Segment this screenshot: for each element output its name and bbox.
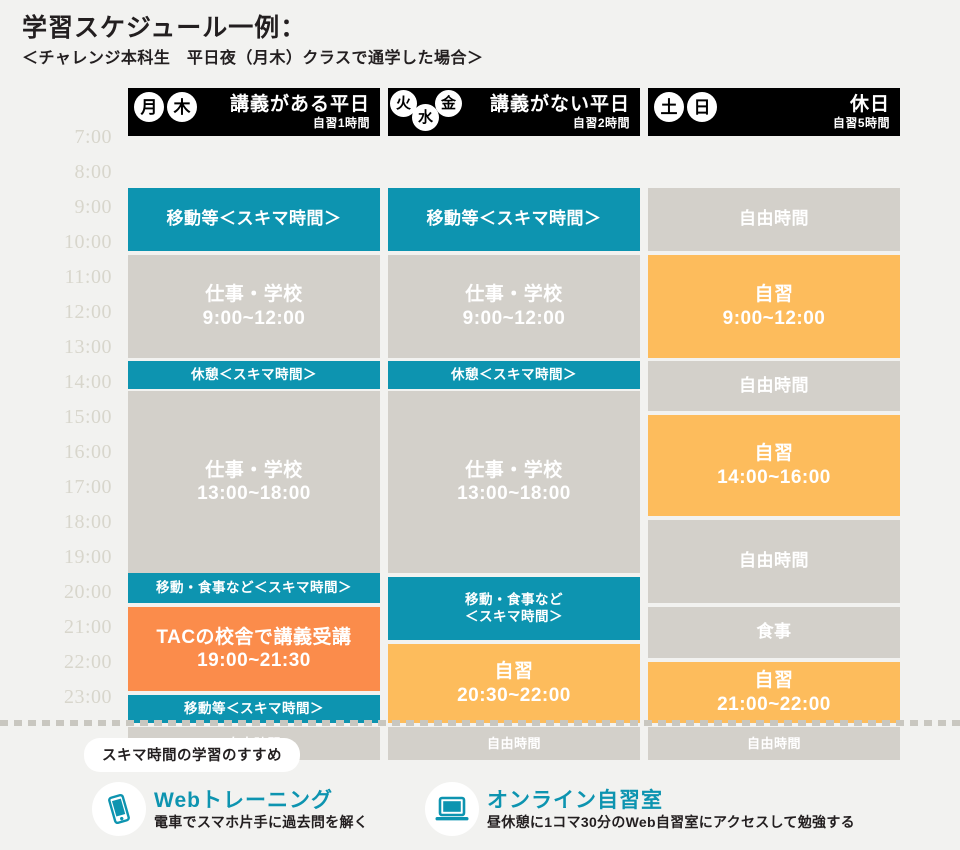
promo-desc: 電車でスマホ片手に過去問を解く (154, 814, 368, 831)
footer: スキマ時間の学習のすすめ Webトレーニング 電車でスマホ片手に過去問を解く (0, 730, 960, 850)
column-body: 自由時間自習9:00~12:00自由時間自習14:00~16:00自由時間食事自… (648, 136, 900, 712)
block-label-secondary: 14:00~16:00 (652, 466, 896, 489)
time-label: 18:00 (0, 511, 112, 534)
schedule-block-free-time-evening: 自由時間 (648, 520, 900, 603)
schedule-block-work-school-afternoon: 仕事・学校13:00~18:00 (128, 391, 380, 573)
column-body: 移動等＜スキマ時間＞仕事・学校9:00~12:00休憩＜スキマ時間＞仕事・学校1… (388, 136, 640, 712)
promo-title: Webトレーニング (154, 788, 368, 813)
block-label-secondary: 9:00~12:00 (392, 307, 636, 330)
schedule-block-work-school-afternoon: 仕事・学校13:00~18:00 (388, 391, 640, 573)
block-label-primary: 移動・食事など＜スキマ時間＞ (132, 580, 376, 596)
block-label-primary: 移動等＜スキマ時間＞ (392, 209, 636, 230)
schedule-block-commute-meal-gap: 移動・食事など＜スキマ時間＞ (128, 573, 380, 603)
schedule-block-self-study-night: 自習21:00~22:00 (648, 662, 900, 723)
column-header-subtitle: 自習5時間 (732, 117, 890, 130)
schedule-block-self-study-night: 自習20:30~22:00 (388, 644, 640, 723)
day-badge: 日 (687, 92, 717, 122)
time-label: 8:00 (0, 161, 112, 184)
schedule-block-free-time-morning: 自由時間 (648, 188, 900, 251)
time-label: 17:00 (0, 476, 112, 499)
time-label: 20:00 (0, 581, 112, 604)
block-label-primary: 仕事・学校 (132, 459, 376, 482)
time-axis: 7:008:009:0010:0011:0012:0013:0014:0015:… (0, 120, 120, 720)
smartphone-icon (92, 782, 146, 836)
schedule-block-meal: 食事 (648, 607, 900, 658)
day-badge: 月 (134, 92, 164, 122)
time-label: 22:00 (0, 651, 112, 674)
section-divider (0, 720, 960, 726)
block-label-primary: 休憩＜スキマ時間＞ (132, 367, 376, 383)
block-label-primary: 自由時間 (652, 376, 896, 397)
column-header-text: 休日自習5時間 (732, 95, 900, 130)
time-label: 14:00 (0, 371, 112, 394)
column-header-text: 講義がある平日自習1時間 (212, 95, 380, 130)
block-label-secondary: 9:00~12:00 (132, 307, 376, 330)
block-label-secondary: 13:00~18:00 (392, 482, 636, 505)
column-header: 土日休日自習5時間 (648, 88, 900, 136)
time-label: 23:00 (0, 686, 112, 709)
column-header-title: 講義がある平日 (212, 95, 370, 115)
block-label-primary: 移動等＜スキマ時間＞ (132, 701, 376, 717)
block-label-primary: TACの校舎で講義受講 (132, 626, 376, 649)
day-badge: 土 (654, 92, 684, 122)
column-header-subtitle: 自習2時間 (472, 117, 630, 130)
time-label: 12:00 (0, 301, 112, 324)
time-label: 7:00 (0, 126, 112, 149)
block-label-primary: 休憩＜スキマ時間＞ (392, 367, 636, 383)
schedule-block-self-study-afternoon: 自習14:00~16:00 (648, 415, 900, 516)
block-label-primary: 仕事・学校 (392, 459, 636, 482)
block-label-primary: 自習 (392, 660, 636, 683)
column-header-title: 休日 (732, 95, 890, 115)
block-label-secondary: 13:00~18:00 (132, 482, 376, 505)
block-label-primary: 仕事・学校 (132, 283, 376, 306)
block-label-secondary: 9:00~12:00 (652, 307, 896, 330)
day-badges: 土日 (648, 88, 732, 136)
schedule-block-commute-gap: 移動等＜スキマ時間＞ (388, 188, 640, 251)
promo-desc: 昼休憩に1コマ30分のWeb自習室にアクセスして勉強する (487, 814, 855, 831)
block-label-primary: 自由時間 (652, 209, 896, 230)
promo-title: オンライン自習室 (487, 788, 855, 813)
block-label-primary: 自習 (652, 283, 896, 306)
block-label-primary: 自由時間 (652, 551, 896, 572)
day-badge: 木 (167, 92, 197, 122)
block-label-secondary: 20:30~22:00 (392, 684, 636, 707)
block-label-primary: 自習 (652, 442, 896, 465)
time-label: 19:00 (0, 546, 112, 569)
schedule-block-commute-meal-gap: 移動・食事など＜スキマ時間＞ (388, 577, 640, 640)
day-badges: 月木 (128, 88, 212, 136)
block-label-primary: 自習 (652, 669, 896, 692)
block-label-secondary: 21:00~22:00 (652, 693, 896, 716)
schedule-column-weekday-no-lecture: 火水金講義がない平日自習2時間移動等＜スキマ時間＞仕事・学校9:00~12:00… (388, 88, 640, 712)
laptop-icon (425, 782, 479, 836)
page-title: 学習スケジュール一例： (22, 8, 306, 44)
schedule-block-work-school-morning: 仕事・学校9:00~12:00 (388, 255, 640, 358)
column-header-text: 講義がない平日自習2時間 (472, 95, 640, 130)
schedule-block-work-school-morning: 仕事・学校9:00~12:00 (128, 255, 380, 358)
day-badge: 金 (435, 90, 462, 117)
schedule-block-commute-gap-night: 移動等＜スキマ時間＞ (128, 695, 380, 723)
column-header-subtitle: 自習1時間 (212, 117, 370, 130)
time-label: 11:00 (0, 266, 112, 289)
time-label: 21:00 (0, 616, 112, 639)
schedule-column-holiday: 土日休日自習5時間自由時間自習9:00~12:00自由時間自習14:00~16:… (648, 88, 900, 712)
column-header: 火水金講義がない平日自習2時間 (388, 88, 640, 136)
time-label: 16:00 (0, 441, 112, 464)
block-label-primary: 食事 (652, 622, 896, 643)
column-header-title: 講義がない平日 (472, 95, 630, 115)
block-label-primary: 移動・食事など (392, 592, 636, 608)
schedule-column-weekday-with-lecture: 月木講義がある平日自習1時間移動等＜スキマ時間＞仕事・学校9:00~12:00休… (128, 88, 380, 712)
time-label: 10:00 (0, 231, 112, 254)
footer-pill-label: スキマ時間の学習のすすめ (84, 738, 300, 772)
time-label: 9:00 (0, 196, 112, 219)
block-label-secondary: ＜スキマ時間＞ (392, 609, 636, 625)
schedule-block-free-time-noon: 自由時間 (648, 361, 900, 411)
promo-web-training[interactable]: Webトレーニング 電車でスマホ片手に過去問を解く (92, 782, 368, 836)
page-subtitle: ＜チャレンジ本科生 平日夜（月木）クラスで通学した場合＞ (22, 44, 484, 68)
block-label-primary: 仕事・学校 (392, 283, 636, 306)
block-label-primary: 移動等＜スキマ時間＞ (132, 209, 376, 230)
day-badges: 火水金 (388, 88, 472, 136)
schedule-block-break-gap: 休憩＜スキマ時間＞ (388, 361, 640, 389)
schedule-block-commute-gap: 移動等＜スキマ時間＞ (128, 188, 380, 251)
column-header: 月木講義がある平日自習1時間 (128, 88, 380, 136)
column-body: 移動等＜スキマ時間＞仕事・学校9:00~12:00休憩＜スキマ時間＞仕事・学校1… (128, 136, 380, 712)
schedule-block-tac-lecture: TACの校舎で講義受講19:00~21:30 (128, 607, 380, 691)
time-label: 15:00 (0, 406, 112, 429)
promo-online-study-room[interactable]: オンライン自習室 昼休憩に1コマ30分のWeb自習室にアクセスして勉強する (425, 782, 855, 836)
schedule-block-self-study-morning: 自習9:00~12:00 (648, 255, 900, 358)
schedule-block-break-gap: 休憩＜スキマ時間＞ (128, 361, 380, 389)
block-label-secondary: 19:00~21:30 (132, 649, 376, 672)
time-label: 13:00 (0, 336, 112, 359)
schedule-infographic: 学習スケジュール一例： ＜チャレンジ本科生 平日夜（月木）クラスで通学した場合＞… (0, 0, 960, 850)
